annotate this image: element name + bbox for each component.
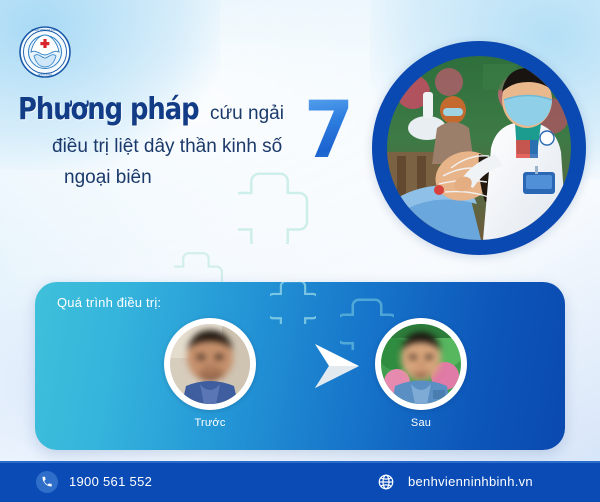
footer-bar: 1900 561 552 benhvienninhbinh.vn xyxy=(0,461,600,502)
before-avatar-block: Trước xyxy=(162,318,258,429)
footer-phone-item[interactable]: 1900 561 552 xyxy=(36,471,152,493)
footer-website-url: benhvienninhbinh.vn xyxy=(408,474,533,489)
hero-treatment-photo xyxy=(372,41,586,255)
headline-strong: Phương pháp xyxy=(18,92,199,127)
big-numeral-seven: 7 xyxy=(304,92,352,170)
phone-icon xyxy=(36,471,58,493)
before-avatar-photo xyxy=(170,324,250,404)
poster-root: BỆNH VIỆN ĐA KHOA NINH BÌNH Phương phápc… xyxy=(0,0,600,502)
before-photo-illustration xyxy=(170,324,250,404)
after-avatar-ring xyxy=(375,318,467,410)
headline-line-3: ngoại biên xyxy=(0,167,350,189)
footer-divider xyxy=(0,461,600,463)
footer-website-item[interactable]: benhvienninhbinh.vn xyxy=(375,471,533,493)
after-photo-illustration xyxy=(381,324,461,404)
hospital-seal-logo: BỆNH VIỆN ĐA KHOA NINH BÌNH xyxy=(18,25,72,79)
hero-photo-illustration xyxy=(387,56,571,240)
headline-light-tail: cứu ngải xyxy=(210,103,284,124)
panel-title: Quá trình điều trị: xyxy=(57,295,161,310)
hero-photo-clip xyxy=(387,56,571,240)
footer-phone-number: 1900 561 552 xyxy=(69,474,152,489)
headline-block: Phương phápcứu ngải điều trị liệt dây th… xyxy=(0,92,350,189)
after-avatar-caption: Sau xyxy=(373,417,469,429)
treatment-process-panel: Quá trình điều trị: xyxy=(35,282,565,450)
cross-decoration-panel-top xyxy=(270,282,316,324)
progress-arrow-icon xyxy=(311,342,371,390)
before-avatar-ring xyxy=(164,318,256,410)
globe-icon xyxy=(375,471,397,493)
after-avatar-block: Sau xyxy=(373,318,469,429)
after-avatar-photo xyxy=(381,324,461,404)
headline-line-2: điều trị liệt dây thần kinh số xyxy=(0,136,350,158)
before-avatar-caption: Trước xyxy=(162,417,258,429)
headline-line-1: Phương phápcứu ngải xyxy=(0,92,350,127)
